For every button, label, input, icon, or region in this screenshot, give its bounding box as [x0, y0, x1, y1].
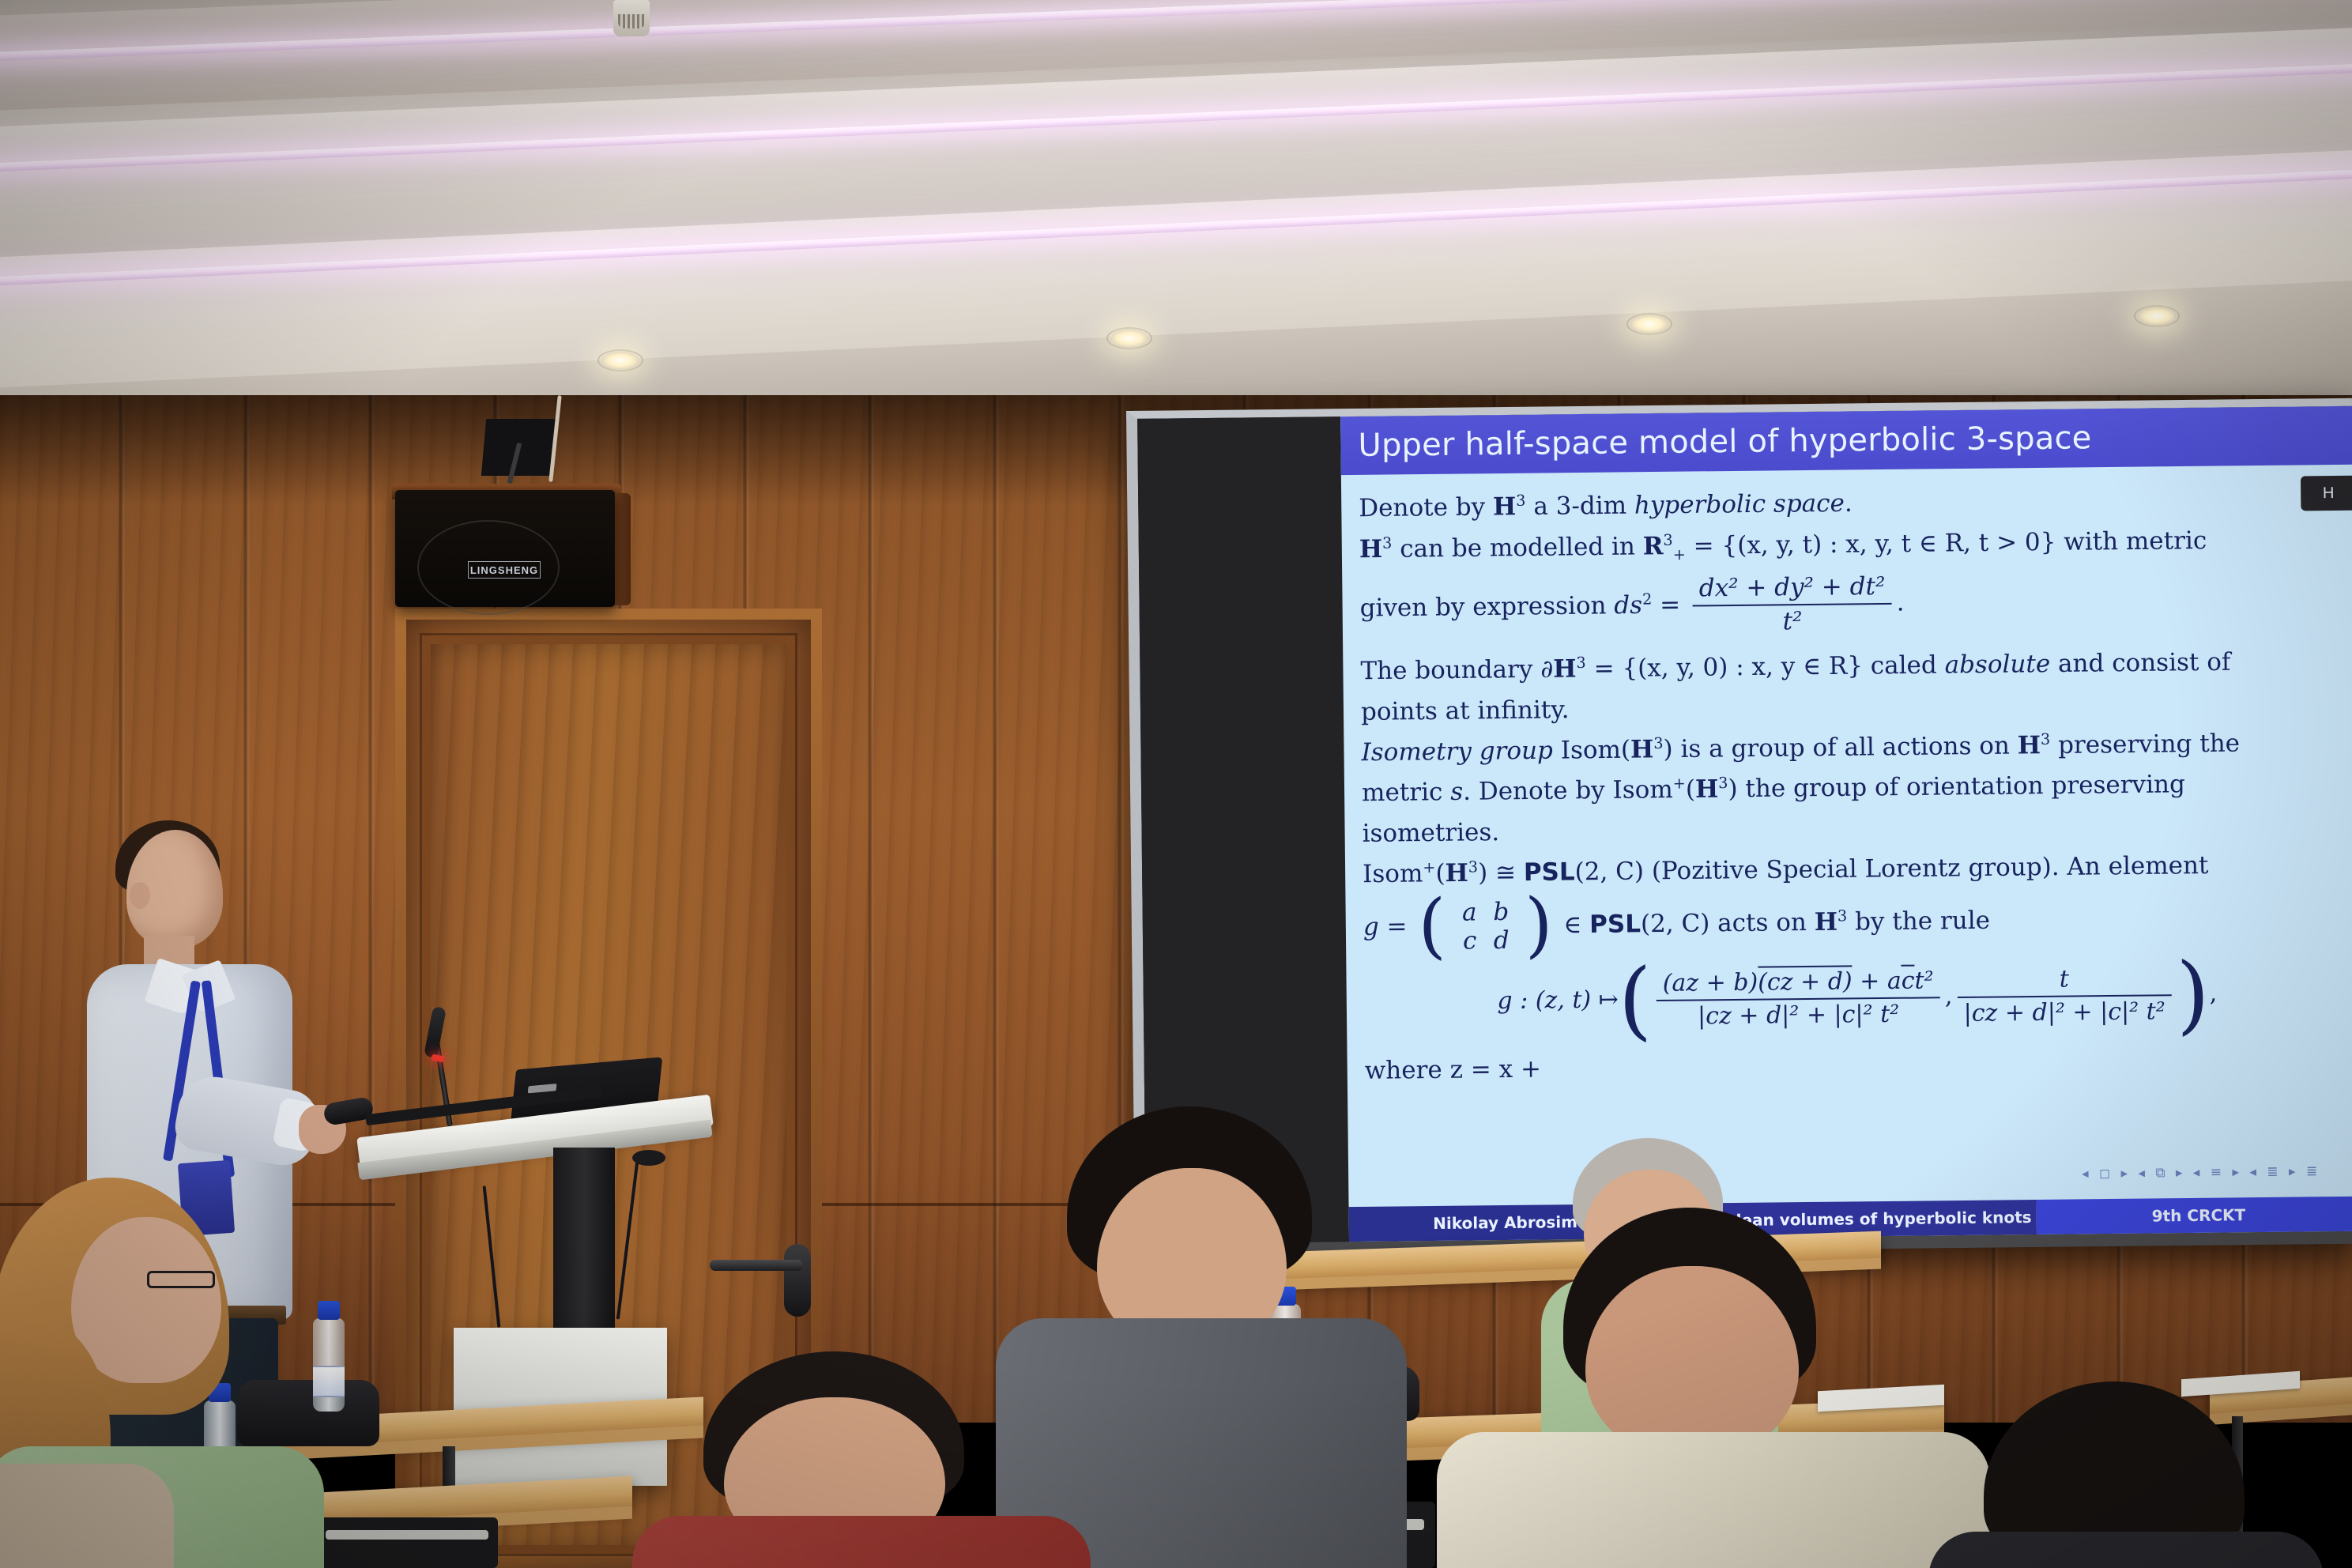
- slide-line-4: The boundary ∂H3 = {(x, y, 0) : x, y ∈ R…: [1360, 645, 2346, 688]
- line4-b: = {(x, y, 0) : x, y ∈ R} caled: [1586, 651, 1945, 684]
- audience-member-red-shirt: [680, 1351, 1043, 1568]
- far-right-shoulders: [1928, 1532, 2324, 1568]
- line1-prefix: Denote by: [1359, 492, 1493, 522]
- line6-H2: H: [2018, 731, 2041, 759]
- speaker-side-trim: [613, 493, 631, 605]
- line6-sup: 3: [1653, 734, 1663, 752]
- line9-psl: PSL: [1524, 858, 1575, 888]
- line3-fraction: dx² + dy² + dt²t²: [1693, 570, 1893, 639]
- line9-plus: +: [1423, 858, 1435, 876]
- line1-italic: hyperbolic space: [1634, 489, 1845, 520]
- head-cream-shirt: [1585, 1266, 1799, 1456]
- wall-speaker: LINGSHENG: [395, 473, 624, 607]
- line1-end: .: [1845, 489, 1853, 518]
- audience-member-cream-shirt: [1468, 1208, 1958, 1568]
- beamer-nav-symbols[interactable]: ◂ ◻ ▸ ◂ ⧉ ▸ ◂ ≡ ▸ ◂ ≣ ▸ ≣: [2082, 1163, 2320, 1182]
- line9-c: ) ≅: [1478, 858, 1524, 888]
- slide-title: Upper half-space model of hyperbolic 3-s…: [1358, 420, 2091, 464]
- formula-comma: ,: [1945, 982, 1953, 1010]
- line7-b: . Denote by Isom: [1463, 775, 1673, 806]
- formula-2-numerator: t: [1957, 963, 2172, 998]
- line10-psl: PSL: [1589, 910, 1641, 939]
- line9-a: Isom: [1363, 860, 1423, 889]
- line3-end: .: [1896, 588, 1904, 616]
- audience-member-far-left: [0, 1464, 174, 1568]
- matrix-left-paren: (: [1418, 899, 1446, 955]
- line6-b: ) is a group of all actions on: [1663, 731, 2018, 763]
- matrix-cell-d: d: [1485, 926, 1517, 955]
- line1-H: H: [1493, 492, 1517, 521]
- eyeglasses-ponytail[interactable]: [147, 1271, 215, 1288]
- f1-num-conj: (cz + d): [1758, 965, 1853, 996]
- slide-line-2: H3 can be modelled in R3+ = {(x, y, t) :…: [1359, 522, 2346, 567]
- speaker-brand-badge: LINGSHENG: [468, 561, 541, 579]
- line9-d: (2, C) (Pozitive Special Lorentz group).…: [1574, 851, 2208, 886]
- slide-body: Denote by H3 a 3-dim hyperbolic space. H…: [1341, 465, 2352, 1194]
- presenter-ear: [130, 882, 150, 909]
- line10-g: g: [1363, 912, 1379, 940]
- speaker-grille: LINGSHENG: [395, 490, 615, 607]
- slide-line-6: Isometry group Isom(H3) is a group of al…: [1361, 726, 2347, 770]
- matrix-cells: abcd: [1445, 897, 1525, 955]
- line6-c: preserving the: [2050, 729, 2240, 759]
- bottle-cap-1: [318, 1301, 340, 1320]
- line3-eq: =: [1652, 590, 1688, 619]
- f1-num-a: (az + b): [1663, 968, 1758, 997]
- line7-plus: +: [1673, 775, 1686, 793]
- ceiling: [0, 0, 2352, 411]
- line3-denominator: t²: [1693, 605, 1892, 639]
- line2-R: R: [1643, 532, 1664, 560]
- formula-1-denominator: |cz + d|² + |c|² t²: [1657, 998, 1940, 1033]
- slide-line-11-formula: g : (z, t) ↦((az + b)(cz + d) + act²|cz …: [1363, 961, 2350, 1036]
- formula-fraction-2: t|cz + d|² + |c|² t²: [1957, 963, 2172, 1030]
- line2-Rsup: 3: [1663, 530, 1672, 548]
- line6-italic: Isometry group: [1361, 737, 1553, 767]
- far-left-shoulder: [0, 1464, 174, 1568]
- footer-conference: 9th CRCKT: [2037, 1197, 2352, 1234]
- matrix-cell-a: a: [1453, 898, 1485, 927]
- matrix-right-paren: ): [1525, 898, 1553, 955]
- matrix-row-1: ab: [1453, 898, 1517, 927]
- downlight-2: [1111, 330, 1148, 347]
- f1-num-b: + a: [1852, 967, 1901, 996]
- line4-sup: 3: [1576, 654, 1585, 672]
- f1-num-cbar: c: [1902, 964, 1915, 994]
- audience-member-grey-tee: [1035, 1106, 1367, 1568]
- slide-line-12: where z = x +: [1365, 1044, 2351, 1087]
- line7-d: ) the group of orientation preserving: [1728, 771, 2185, 804]
- line9-b: (: [1435, 859, 1445, 888]
- door-lock-plate: [784, 1244, 811, 1317]
- matrix-row-2: cd: [1453, 926, 1517, 955]
- line3-a: given by expression: [1359, 591, 1614, 622]
- line7-c: (: [1686, 775, 1695, 804]
- matrix-abcd: (abcd): [1418, 897, 1553, 956]
- audience-member-far-right: [1960, 1381, 2276, 1568]
- line2-b: = {(x, y, t) : x, y, t ∈ R, t > 0} with …: [1686, 526, 2207, 560]
- downlight-1: [602, 352, 639, 369]
- line6-sup2: 3: [2041, 730, 2050, 748]
- chair-front-left-bar: [326, 1530, 488, 1540]
- line10-in: ∈: [1555, 910, 1589, 939]
- cream-shirt: [1437, 1432, 1990, 1568]
- head-ponytail: [71, 1217, 221, 1383]
- formula-2-denominator: |cz + d|² + |c|² t²: [1957, 996, 2172, 1030]
- line4-H: H: [1553, 654, 1577, 683]
- lectern-column: [553, 1148, 615, 1337]
- slide-line-3: given by expression ds2 = dx² + dy² + dt…: [1359, 565, 2346, 643]
- chair-front-left[interactable]: [316, 1517, 498, 1568]
- slide-line-1: Denote by H3 a 3-dim hyperbolic space.: [1359, 482, 2345, 526]
- line10-H: H: [1815, 907, 1838, 936]
- line10-e: (2, C) acts on: [1641, 908, 1815, 938]
- formula-lhs: g : (z, t) ↦: [1497, 986, 1619, 1015]
- line6-H: H: [1630, 735, 1654, 763]
- line10-eq: =: [1379, 912, 1415, 940]
- line3-ds: ds: [1614, 591, 1642, 620]
- line2-a: can be modelled in: [1392, 532, 1643, 563]
- slide-line-5: points at infinity.: [1361, 685, 2347, 728]
- red-shirt: [632, 1516, 1091, 1568]
- line4-italic: absolute: [1944, 650, 2050, 679]
- line7-italic: s: [1450, 778, 1463, 806]
- line4-a: The boundary ∂: [1360, 655, 1553, 686]
- matrix-cell-c: c: [1453, 927, 1485, 956]
- line7-H: H: [1695, 775, 1719, 804]
- line2-Rsub: +: [1673, 545, 1686, 563]
- lecture-hall-photo: LINGSHENG Upper half-space model of hype…: [0, 0, 2352, 1568]
- door-handle[interactable]: [710, 1260, 803, 1271]
- slide-line-8: isometries.: [1362, 808, 2348, 850]
- line3-sup: 2: [1642, 590, 1652, 608]
- slide-line-7: metric s. Denote by Isom+(H3) the group …: [1362, 767, 2348, 810]
- formula-fraction-1: (az + b)(cz + d) + act²|cz + d|² + |c|² …: [1657, 965, 1941, 1033]
- line9-H: H: [1445, 859, 1468, 888]
- line7-a: metric: [1362, 778, 1451, 807]
- slide: Upper half-space model of hyperbolic 3-s…: [1340, 406, 2352, 1242]
- matrix-cell-b: b: [1485, 898, 1517, 927]
- slide-line-9: Isom+(H3) ≅ PSL(2, C) (Pozitive Special …: [1363, 848, 2349, 891]
- formula-1-numerator: (az + b)(cz + d) + act²: [1657, 965, 1940, 1001]
- line4-c: and consist of: [2050, 648, 2231, 678]
- smoke-detector-icon: [613, 0, 650, 36]
- formula-right-paren: ): [2176, 945, 2210, 1044]
- line7-sup: 3: [1718, 774, 1728, 792]
- formula-tail: ,: [2209, 979, 2217, 1007]
- line1-mid: a 3-dim: [1525, 492, 1634, 521]
- downlight-3: [1631, 315, 1668, 333]
- line10-f: by the rule: [1847, 906, 1990, 936]
- line6-a: Isom(: [1553, 735, 1631, 764]
- water-bottle-1: [313, 1318, 345, 1412]
- line9-sup: 3: [1468, 857, 1478, 876]
- downlight-4: [2139, 307, 2175, 325]
- formula-left-paren: (: [1618, 951, 1652, 1050]
- f1-num-c: t²: [1914, 967, 1933, 994]
- slide-title-bar: Upper half-space model of hyperbolic 3-s…: [1340, 406, 2352, 475]
- bottle-label-1: [313, 1366, 345, 1397]
- line2-sup: 3: [1382, 533, 1392, 552]
- line2-H: H: [1359, 534, 1383, 563]
- line10-sup: 3: [1837, 906, 1847, 925]
- line1-sup: 3: [1516, 492, 1525, 510]
- line3-numerator: dx² + dy² + dt²: [1693, 570, 1892, 606]
